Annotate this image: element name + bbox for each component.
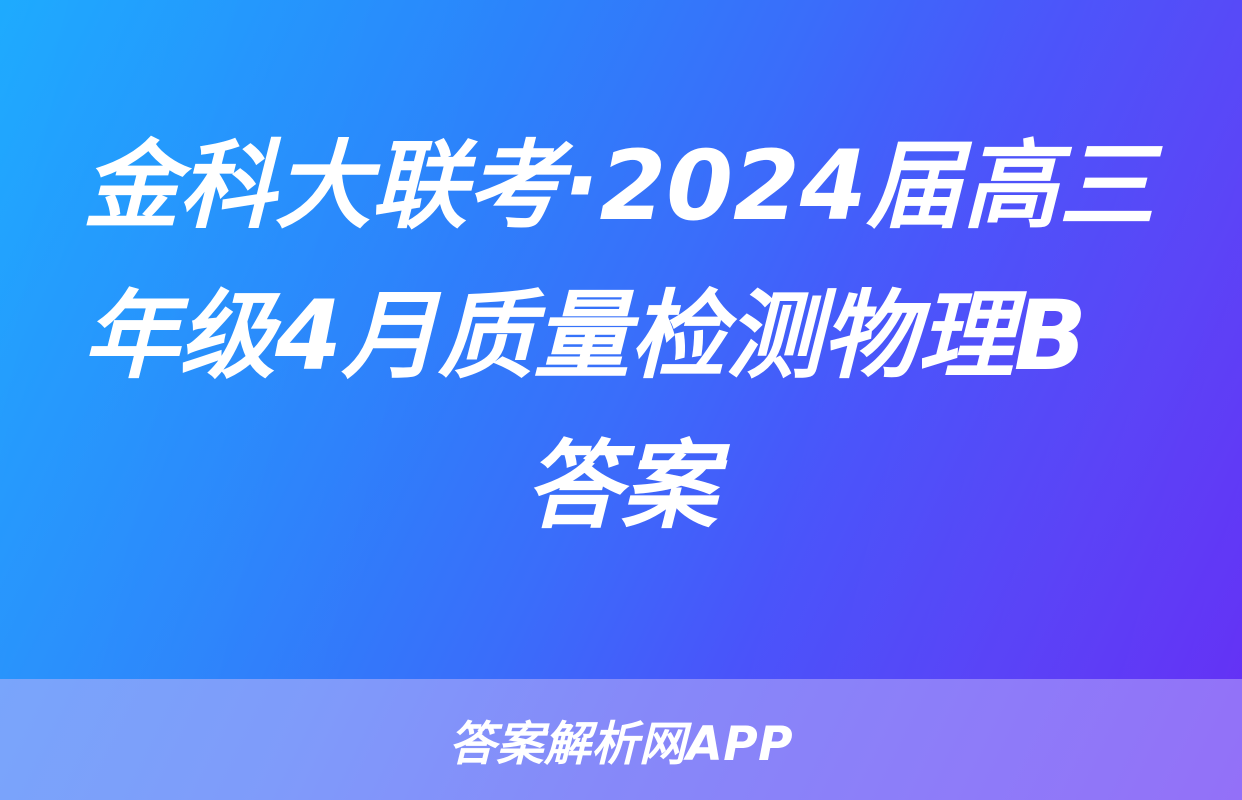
poster-canvas: 金科大联考·2024届高三年级4月质量检测物理B答案 答案解析网APP <box>0 0 1242 800</box>
watermark-text: 答案解析网APP <box>449 705 793 774</box>
title-line-1: 金科大联考·2024届高三 <box>83 130 1155 242</box>
title-line-3: 答案 <box>83 411 1159 561</box>
watermark-band: 答案解析网APP <box>0 679 1242 800</box>
title-line-2: 年级4月质量检测物理B <box>83 280 1087 392</box>
headline-container: 金科大联考·2024届高三年级4月质量检测物理B答案 <box>0 0 1242 679</box>
poster-title: 金科大联考·2024届高三年级4月质量检测物理B答案 <box>83 111 1159 561</box>
